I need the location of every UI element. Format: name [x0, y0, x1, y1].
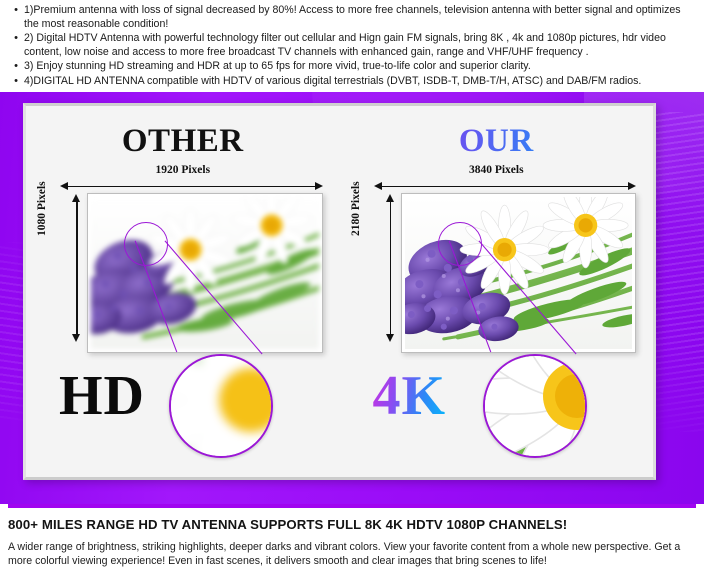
list-item: • 3) Enjoy stunning HD streaming and HDR… [8, 60, 698, 74]
width-dimension-arrow-icon [60, 182, 323, 191]
sample-photo-right [405, 197, 633, 349]
bullet-dot-icon: • [8, 4, 24, 18]
lavender-daisy-illustration-icon [169, 354, 273, 458]
arrow-bar [76, 201, 78, 335]
bullet-dot-icon: • [8, 32, 24, 46]
comparison-hero-banner: OTHER 1920 Pixels 1080 Pixels [0, 92, 704, 504]
height-dimension-arrow-icon [72, 194, 81, 342]
sample-photo-frame-right [401, 193, 637, 353]
arrow-bar [390, 201, 392, 335]
lavender-daisy-illustration-icon [91, 197, 319, 349]
sample-photo-frame-left [87, 193, 323, 353]
comparison-card: OTHER 1920 Pixels 1080 Pixels [23, 103, 656, 480]
height-dimension-arrow-icon [386, 194, 395, 342]
arrow-head-right-icon [315, 182, 323, 190]
width-dimension-arrow-icon [374, 182, 637, 191]
panel-title-our: OUR [340, 123, 654, 159]
magnified-detail-left [169, 354, 273, 458]
quality-label-4k: 4K [373, 368, 447, 424]
width-dimension-label-left: 1920 Pixels [26, 164, 340, 176]
footer-section: 800+ MILES RANGE HD TV ANTENNA SUPPORTS … [0, 504, 704, 569]
feature-text: 3) Enjoy stunning HD streaming and HDR a… [24, 60, 698, 74]
bullet-dot-icon: • [8, 75, 24, 89]
feature-bullet-list: • 1)Premium antenna with loss of signal … [0, 0, 704, 92]
height-dimension-label-left: 1080 Pixels [36, 181, 48, 236]
width-dimension-label-right: 3840 Pixels [340, 164, 654, 176]
list-item: • 4)DIGITAL HD ANTENNA compatible with H… [8, 75, 698, 89]
quality-label-hd: HD [59, 368, 145, 424]
panel-our: OUR 3840 Pixels 2180 Pixels [340, 106, 654, 477]
magnified-photo-right [483, 354, 587, 458]
list-item: • 1)Premium antenna with loss of signal … [8, 4, 698, 31]
divider [8, 504, 696, 508]
selection-circle-left [124, 222, 168, 266]
arrow-head-right-icon [628, 182, 636, 190]
footer-heading: 800+ MILES RANGE HD TV ANTENNA SUPPORTS … [8, 517, 696, 532]
feature-text: 4)DIGITAL HD ANTENNA compatible with HDT… [24, 75, 698, 89]
arrow-bar [381, 186, 630, 188]
arrow-head-bottom-icon [72, 334, 80, 342]
arrow-bar [67, 186, 316, 188]
bullet-dot-icon: • [8, 60, 24, 74]
lavender-daisy-illustration-icon [405, 197, 633, 349]
magnified-photo-left [169, 354, 273, 458]
height-dimension-label-right: 2180 Pixels [350, 181, 362, 236]
footer-body: A wider range of brightness, striking hi… [8, 540, 696, 569]
feature-text: 1)Premium antenna with loss of signal de… [24, 4, 698, 31]
panel-title-other: OTHER [26, 123, 340, 159]
panel-other: OTHER 1920 Pixels 1080 Pixels [26, 106, 340, 477]
sample-photo-left [91, 197, 319, 349]
arrow-head-bottom-icon [386, 334, 394, 342]
list-item: • 2) Digital HDTV Antenna with powerful … [8, 32, 698, 59]
lavender-daisy-illustration-icon [483, 354, 587, 458]
magnified-detail-right [483, 354, 587, 458]
selection-circle-right [438, 222, 482, 266]
feature-text: 2) Digital HDTV Antenna with powerful te… [24, 32, 698, 59]
